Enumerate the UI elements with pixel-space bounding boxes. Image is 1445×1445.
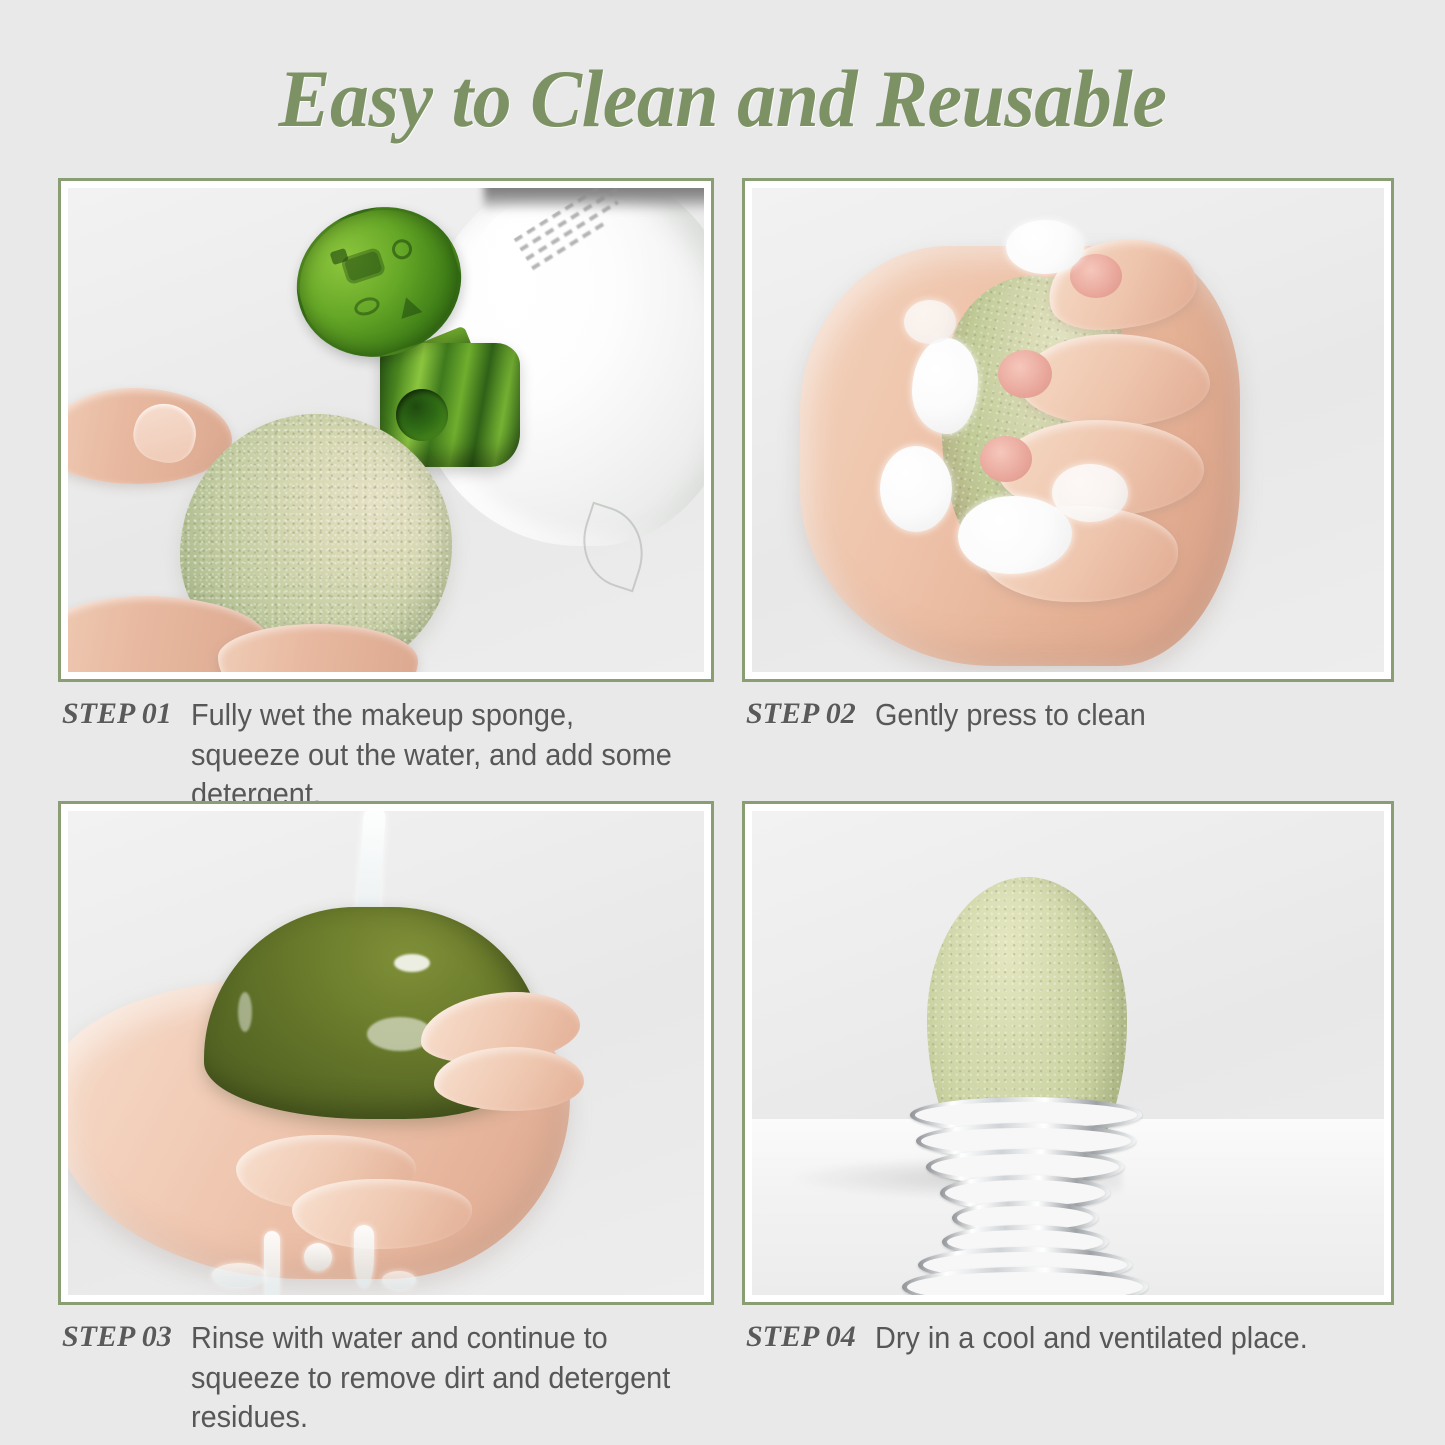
water-drip <box>264 1231 280 1295</box>
step-04-photo-frame <box>742 801 1394 1305</box>
water-drip <box>212 1263 266 1287</box>
foam-blob <box>904 300 956 344</box>
step-02-photo <box>752 188 1384 672</box>
step-02-caption: STEP 02 Gently press to clean <box>742 695 1394 735</box>
step-01-caption: STEP 01 Fully wet the makeup sponge, squ… <box>58 695 714 814</box>
step-01-photo <box>68 188 704 672</box>
step-03-photo <box>68 811 704 1295</box>
infographic-page: Easy to Clean and Reusable <box>0 0 1445 1445</box>
step-03-photo-frame <box>58 801 714 1305</box>
foam-blob <box>1006 220 1084 274</box>
step-02-label: STEP 02 <box>746 695 875 733</box>
fingertip-middle <box>998 350 1052 398</box>
step-card-02: STEP 02 Gently press to clean <box>742 178 1394 735</box>
step-01-label: STEP 01 <box>62 695 191 733</box>
step-03-caption: STEP 03 Rinse with water and continue to… <box>58 1318 714 1437</box>
step-card-03: STEP 03 Rinse with water and continue to… <box>58 801 714 1437</box>
step-card-04: STEP 04 Dry in a cool and ventilated pla… <box>742 801 1394 1358</box>
step-02-photo-frame <box>742 178 1394 682</box>
step-03-text: Rinse with water and continue to squeeze… <box>191 1318 678 1437</box>
water-drip <box>304 1243 332 1271</box>
foam-blob <box>1052 464 1128 522</box>
step-01-photo-frame <box>58 178 714 682</box>
steps-grid: STEP 01 Fully wet the makeup sponge, squ… <box>0 0 1445 1445</box>
step-card-01: STEP 01 Fully wet the makeup sponge, squ… <box>58 178 714 814</box>
foam-blob <box>880 446 952 532</box>
step-04-text: Dry in a cool and ventilated place. <box>875 1318 1358 1358</box>
step-02-text: Gently press to clean <box>875 695 1358 735</box>
water-drip <box>354 1225 374 1287</box>
spiral-stand <box>902 1097 1152 1295</box>
foam-blob <box>912 338 978 434</box>
fingertip-ring <box>980 436 1032 482</box>
finger-right-lower <box>434 1047 584 1111</box>
step-04-label: STEP 04 <box>746 1318 875 1356</box>
step-01-text: Fully wet the makeup sponge, squeeze out… <box>191 695 678 814</box>
step-03-label: STEP 03 <box>62 1318 191 1356</box>
step-04-caption: STEP 04 Dry in a cool and ventilated pla… <box>742 1318 1394 1358</box>
water-drip <box>382 1271 416 1289</box>
step-04-photo <box>752 811 1384 1295</box>
